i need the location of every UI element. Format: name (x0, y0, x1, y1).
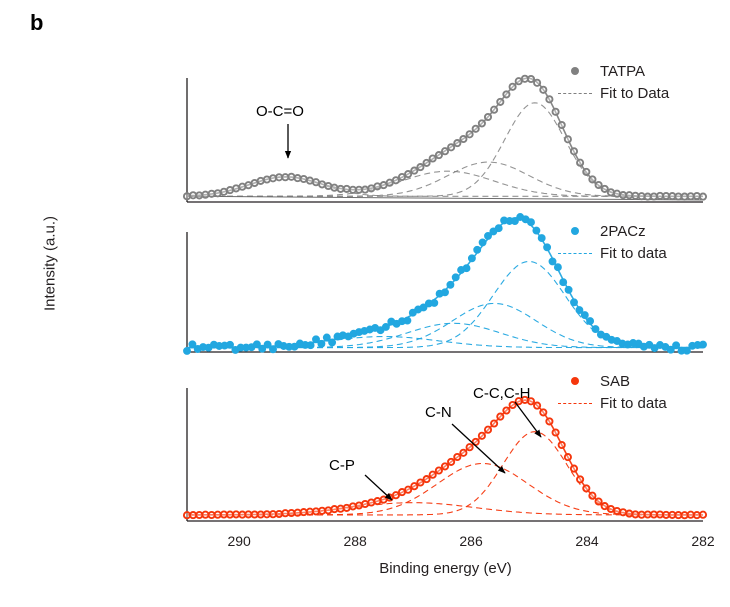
data-point (559, 122, 565, 128)
data-point (442, 148, 448, 154)
data-point (270, 346, 277, 353)
data-point (318, 340, 325, 347)
data-point (602, 186, 608, 192)
data-point (491, 107, 497, 113)
xps-figure: b Intensity (a.u.) Binding energy (eV) 2… (0, 0, 730, 607)
data-point (546, 96, 552, 102)
data-point (184, 348, 191, 355)
data-point (576, 307, 583, 314)
data-point (553, 429, 559, 435)
data-point (417, 479, 423, 485)
data-point (404, 317, 411, 324)
data-point (233, 185, 239, 191)
data-point (405, 171, 411, 177)
data-point (184, 193, 190, 199)
data-point (596, 182, 602, 188)
legend-marker-dot (556, 377, 594, 385)
panel-2-fit-component-1 (187, 464, 703, 515)
data-point (540, 87, 546, 93)
legend-marker-dashed-line (556, 93, 594, 94)
data-point (528, 219, 535, 226)
annotation-label-o-c-o: O-C=O (256, 103, 304, 120)
data-point (577, 476, 583, 482)
data-point (467, 131, 473, 137)
legend-row-fit: Fit to data (556, 392, 667, 414)
data-point (411, 168, 417, 174)
data-point (405, 487, 411, 493)
annotation-arrow-c-n (452, 424, 505, 473)
data-point (362, 187, 368, 193)
data-point (460, 450, 466, 456)
legend-tatpa: TATPA Fit to Data (556, 60, 669, 104)
data-point (495, 225, 502, 232)
data-point (546, 418, 552, 424)
data-point (479, 433, 485, 439)
legend-label-tatpa: TATPA (594, 63, 645, 80)
data-point (374, 498, 380, 504)
data-point (620, 509, 626, 515)
data-point (473, 126, 479, 132)
legend-label-fit-tatpa: Fit to Data (594, 85, 669, 102)
data-point (485, 114, 491, 120)
legend-row-fit: Fit to Data (556, 82, 669, 104)
data-point (454, 140, 460, 146)
legend-sab: SAB Fit to data (556, 370, 667, 414)
data-point (560, 279, 567, 286)
data-point (288, 174, 294, 180)
legend-marker-dot (556, 67, 594, 75)
data-point (344, 186, 350, 192)
panel-2-fit-component-2 (187, 432, 703, 515)
data-point (215, 190, 221, 196)
data-point (329, 339, 336, 346)
data-point (362, 501, 368, 507)
data-point (553, 109, 559, 115)
data-point (503, 407, 509, 413)
data-point (509, 84, 515, 90)
data-point (202, 192, 208, 198)
data-point (581, 312, 588, 319)
data-point (270, 175, 276, 181)
data-point (276, 511, 282, 517)
data-point (436, 467, 442, 473)
legend-row-series: SAB (556, 370, 667, 392)
data-point (497, 99, 503, 105)
data-point (474, 246, 481, 253)
data-point (571, 299, 578, 306)
legend-label-fit-sab: Fit to data (594, 395, 667, 412)
legend-marker-dashed-line (556, 403, 594, 404)
data-point (589, 176, 595, 182)
data-point (479, 239, 486, 246)
data-point (383, 324, 390, 331)
data-point (307, 342, 314, 349)
data-point (344, 505, 350, 511)
data-point (602, 503, 608, 509)
panel-1-fit-component-3 (187, 262, 703, 348)
data-point (442, 289, 449, 296)
data-point (424, 160, 430, 166)
data-point (538, 235, 545, 242)
data-point (431, 300, 438, 307)
data-point (509, 402, 515, 408)
data-point (549, 258, 556, 265)
data-point (258, 178, 264, 184)
data-point (700, 512, 706, 518)
annotation-label-c-c-c-h: C-C,C-H (473, 385, 531, 402)
data-point (469, 255, 476, 262)
data-point (417, 164, 423, 170)
data-point (577, 160, 583, 166)
legend-marker-dashed-line (556, 253, 594, 254)
data-point (447, 281, 454, 288)
data-point (319, 181, 325, 187)
data-point (331, 185, 337, 191)
data-point (571, 148, 577, 154)
data-point (463, 265, 470, 272)
data-point (700, 194, 706, 200)
data-point (587, 318, 594, 325)
data-point (565, 454, 571, 460)
x-tick-label-282: 282 (673, 533, 730, 549)
data-point (503, 91, 509, 97)
panel-1-fit-component-2 (187, 303, 703, 347)
data-point (589, 493, 595, 499)
data-point (565, 286, 572, 293)
data-point (497, 414, 503, 420)
x-tick-label-288: 288 (325, 533, 385, 549)
data-point (393, 177, 399, 183)
data-point (442, 463, 448, 469)
x-tick-label-284: 284 (557, 533, 617, 549)
data-point (430, 155, 436, 161)
data-point (540, 409, 546, 415)
data-point (411, 483, 417, 489)
x-tick-label-286: 286 (441, 533, 501, 549)
data-point (565, 136, 571, 142)
data-point (571, 466, 577, 472)
data-point (479, 120, 485, 126)
data-point (555, 264, 562, 271)
data-point (534, 80, 540, 86)
data-point (436, 152, 442, 158)
legend-marker-dot (556, 227, 594, 235)
data-point (485, 427, 491, 433)
annotation-label-c-n: C-N (425, 404, 452, 421)
data-point (424, 476, 430, 482)
data-point (301, 176, 307, 182)
data-point (467, 444, 473, 450)
data-point (460, 136, 466, 142)
data-point (533, 227, 540, 234)
legend-label-2pacz: 2PACz (594, 223, 646, 240)
data-point (592, 326, 599, 333)
legend-label-fit-2pacz: Fit to data (594, 245, 667, 262)
data-point (528, 76, 534, 82)
legend-2pacz: 2PACz Fit to data (556, 220, 667, 264)
data-point (448, 144, 454, 150)
x-tick-label-290: 290 (209, 533, 269, 549)
data-point (452, 274, 459, 281)
data-point (596, 498, 602, 504)
legend-row-fit: Fit to data (556, 242, 667, 264)
data-point (454, 454, 460, 460)
legend-label-sab: SAB (594, 373, 630, 390)
data-point (700, 341, 707, 348)
annotation-label-c-p: C-P (329, 457, 355, 474)
data-point (583, 485, 589, 491)
data-point (559, 442, 565, 448)
data-point (491, 420, 497, 426)
legend-row-series: TATPA (556, 60, 669, 82)
data-point (534, 403, 540, 409)
data-point (583, 169, 589, 175)
data-point (374, 183, 380, 189)
data-point (430, 472, 436, 478)
data-point (544, 244, 551, 251)
data-point (448, 459, 454, 465)
data-point (227, 341, 234, 348)
data-point (673, 342, 680, 349)
legend-row-series: 2PACz (556, 220, 667, 242)
annotation-arrow-c-p (365, 475, 392, 500)
